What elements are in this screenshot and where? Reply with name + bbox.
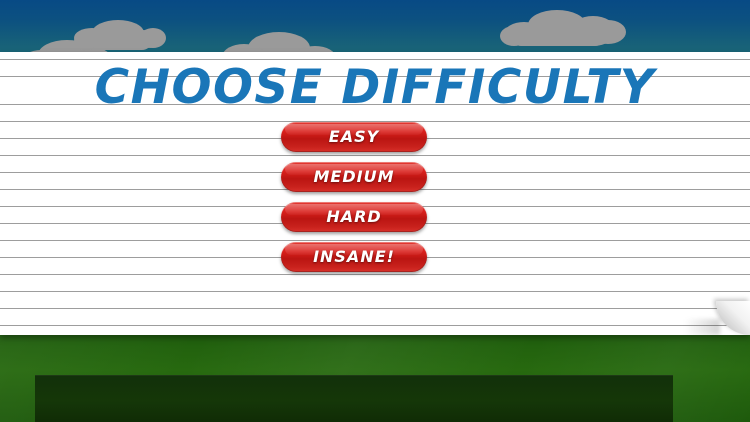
difficulty-easy-label: EASY (329, 127, 379, 146)
difficulty-menu: EASY MEDIUM HARD INSANE! (281, 122, 427, 282)
difficulty-medium-label: MEDIUM (314, 167, 395, 186)
difficulty-hard-button[interactable]: HARD (281, 202, 427, 232)
difficulty-hard-label: HARD (326, 207, 381, 226)
field-panel (35, 375, 673, 422)
difficulty-insane-button[interactable]: INSANE! (281, 242, 427, 272)
sky-background (0, 0, 750, 60)
difficulty-easy-button[interactable]: EASY (281, 122, 427, 152)
field-background (0, 322, 750, 422)
cloud-icon (80, 30, 152, 50)
game-screen: CHOOSE DIFFICULTY EASY MEDIUM HARD INSAN… (0, 0, 750, 422)
page-curl-shadow (684, 319, 720, 335)
difficulty-insane-label: INSANE! (313, 247, 395, 266)
cloud-icon (510, 24, 606, 46)
difficulty-medium-button[interactable]: MEDIUM (281, 162, 427, 192)
page-title: CHOOSE DIFFICULTY (0, 60, 750, 116)
